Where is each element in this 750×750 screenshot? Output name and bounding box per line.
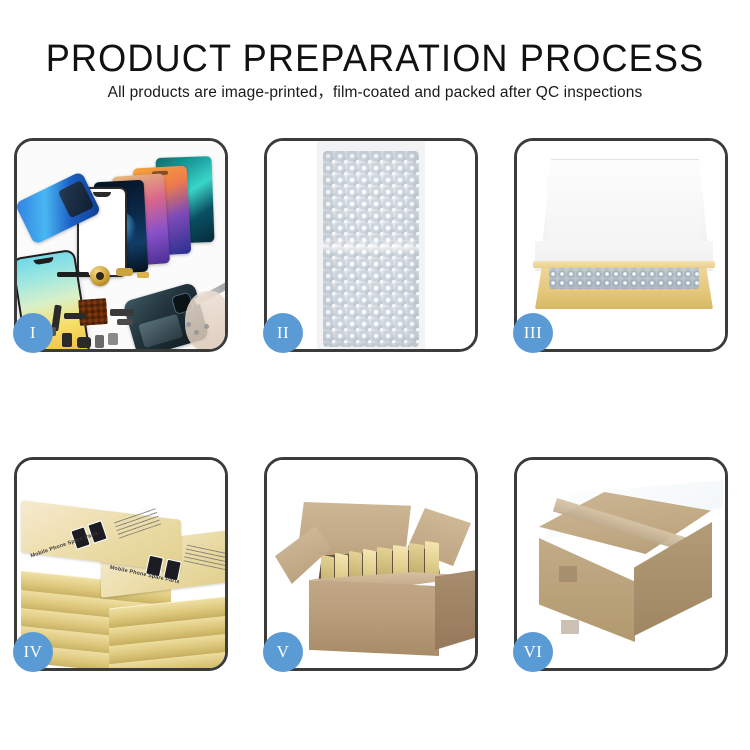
step-panel-1[interactable]: I	[14, 138, 228, 352]
carton-front-face	[539, 538, 635, 642]
speaker-coil-part	[90, 266, 110, 286]
steps-grid: I II	[0, 0, 750, 750]
step-badge-1: I	[13, 313, 53, 353]
flex-cable-part	[64, 313, 86, 319]
screw-part	[204, 324, 209, 329]
notch-icon	[93, 192, 111, 197]
step-3-image	[517, 141, 725, 349]
plastic-sheen	[323, 239, 419, 253]
step-panel-4[interactable]: Mobile Phone Spare Parts Mobile Phone Sp…	[14, 457, 228, 671]
notch-icon	[33, 257, 54, 265]
step-panel-3[interactable]: III	[514, 138, 728, 352]
screw-part	[194, 330, 199, 335]
frame-insert	[58, 180, 95, 218]
step-badge-4: IV	[13, 632, 53, 672]
phone-parts-scene	[17, 141, 225, 349]
inner-box-scene	[517, 141, 725, 349]
carton-tape-tab	[559, 566, 577, 582]
carton-tape-tab	[561, 620, 579, 634]
carton-side-face	[435, 570, 475, 650]
flex-cable-part	[110, 309, 134, 316]
step-badge-3: III	[513, 313, 553, 353]
gold-clip-part	[137, 272, 149, 278]
ic-chip-grid-part	[78, 298, 108, 326]
sim-tray-part	[62, 333, 72, 347]
step-6-image	[517, 460, 725, 668]
step-badge-6: VI	[513, 632, 553, 672]
product-preparation-infographic: PRODUCT PREPARATION PROCESS All products…	[0, 0, 750, 750]
flex-cable-part	[117, 319, 133, 325]
step-2-image	[267, 141, 475, 349]
step-5-image	[267, 460, 475, 668]
earpiece-mesh-part	[57, 272, 89, 277]
step-badge-2: II	[263, 313, 303, 353]
step-panel-2[interactable]: II	[264, 138, 478, 352]
step-panel-5[interactable]: V	[264, 457, 478, 671]
kraft-box-lip	[533, 261, 715, 268]
step-1-image	[17, 141, 225, 349]
battery-part	[138, 314, 183, 348]
gold-connector-part	[116, 268, 133, 276]
vibrator-motor-part	[77, 337, 91, 348]
open-carton-scene	[267, 460, 475, 668]
hand-image	[185, 291, 225, 349]
sealed-carton-scene	[517, 460, 725, 668]
bubble-wrap-texture	[323, 151, 419, 347]
bubble-wrap-scene	[267, 141, 475, 349]
stacked-boxes-scene: Mobile Phone Spare Parts Mobile Phone Sp…	[17, 460, 225, 668]
step-panel-6[interactable]: VI	[514, 457, 728, 671]
step-4-image: Mobile Phone Spare Parts Mobile Phone Sp…	[17, 460, 225, 668]
step-badge-5: V	[263, 632, 303, 672]
carton-front-face	[309, 580, 439, 656]
button-part	[95, 335, 104, 348]
bracket-part	[108, 333, 118, 345]
screw-part	[186, 322, 191, 327]
